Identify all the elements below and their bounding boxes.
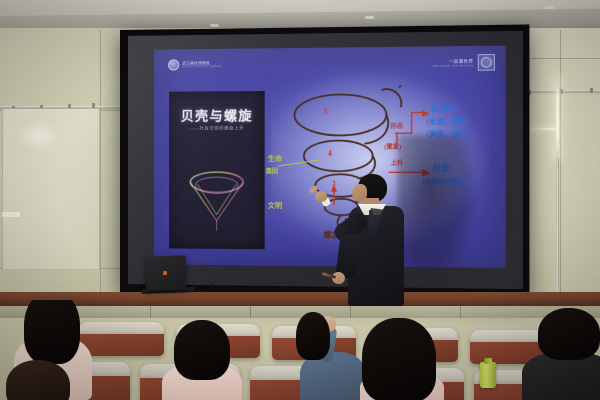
list-item (528, 304, 600, 400)
audience-seating (0, 300, 600, 400)
list-item (160, 320, 246, 400)
wall-seam (100, 30, 101, 316)
annotation: 形态 (391, 121, 404, 130)
annotation: 生命 (268, 154, 282, 164)
presenter (336, 168, 420, 308)
ceiling-fixture-icon (365, 16, 374, 19)
logo-name-cn: 武汉高校博物馆 (182, 60, 221, 64)
list-item (354, 310, 450, 400)
ceiling-fixture-icon (545, 6, 554, 9)
slide-logo: 武汉高校博物馆 WUHAN UNIVERSITY MUSEUM (168, 59, 221, 71)
rail-hook-icon (590, 88, 593, 93)
annotation: 基因 (266, 166, 278, 175)
laptop-logo-icon (163, 271, 167, 275)
annotation: 4 (328, 149, 332, 158)
student-hair (6, 360, 70, 400)
water-bottle (480, 362, 496, 388)
annotation: 3 (332, 179, 336, 187)
annotation: 自然界 (431, 103, 457, 115)
slide-header-right: 一起遇世界 ONE WORLD, ONE HERITAGE (432, 54, 495, 71)
ceiling-fixture-icon (210, 24, 219, 27)
presenter-ear (354, 190, 359, 197)
student-hair (538, 308, 600, 360)
whiteboard-glare (18, 122, 60, 150)
campaign-name-cn: 一起遇世界 (449, 58, 474, 63)
student-hair (296, 312, 330, 360)
logo-name-en: WUHAN UNIVERSITY MUSEUM (182, 66, 221, 69)
slide-title-panel: 贝壳与螺旋 ——社会文明的螺旋上升 (169, 91, 265, 249)
student-hair (174, 320, 230, 380)
slide-subtitle: ——社会文明的螺旋上升 (175, 125, 258, 131)
wall-seam (560, 30, 561, 316)
student-hair (362, 318, 436, 400)
annotation: 5 (324, 107, 328, 116)
vertical-light-strip (556, 78, 559, 158)
rail-hook-icon (560, 89, 563, 94)
presenter-laptop (146, 255, 186, 290)
presenter-pointing-hand (315, 191, 327, 202)
screen-surface: 武汉高校博物馆 WUHAN UNIVERSITY MUSEUM 一起遇世界 ON… (128, 31, 523, 289)
list-item (0, 360, 80, 400)
whiteboard-label (2, 212, 20, 217)
museum-emblem-icon (168, 59, 179, 70)
student-hair (24, 300, 80, 364)
annotation: (水流、飓风) (427, 116, 469, 127)
lecture-hall-photo: 武汉高校博物馆 WUHAN UNIVERSITY MUSEUM 一起遇世界 ON… (0, 0, 600, 400)
presentation-slide: 武汉高校博物馆 WUHAN UNIVERSITY MUSEUM 一起遇世界 ON… (154, 46, 506, 269)
campaign-name-en: ONE WORLD, ONE HERITAGE (432, 64, 473, 67)
seal-badge-inner (481, 57, 492, 67)
water-bottle-cap (484, 358, 492, 364)
shell-cone-figure (181, 154, 252, 237)
annotation: 文明 (268, 201, 282, 211)
slide-title: 贝壳与螺旋 (177, 105, 256, 125)
seal-badge-icon (478, 54, 495, 71)
